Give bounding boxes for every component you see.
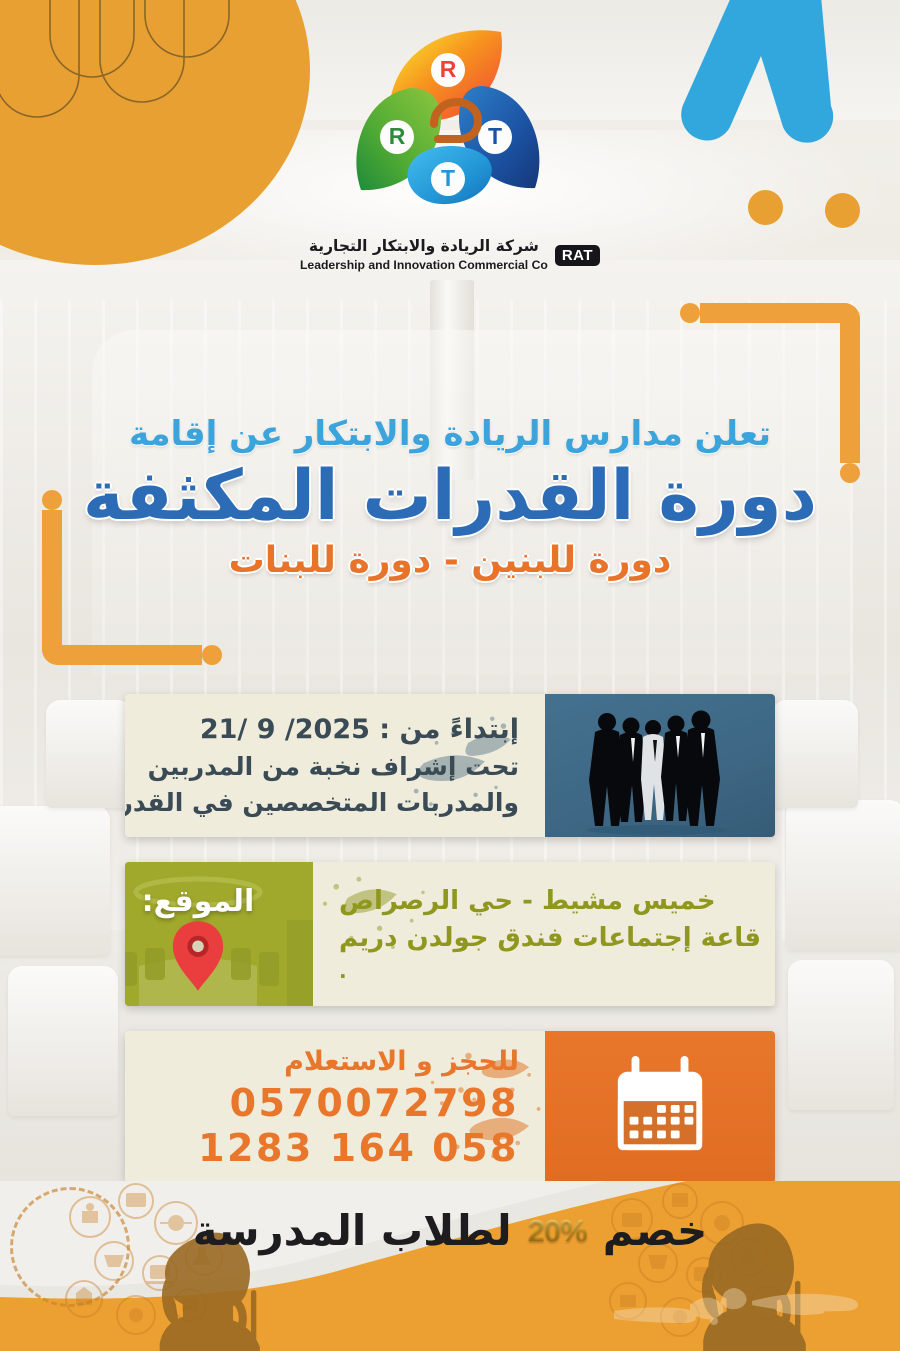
brand-caption: RAT شركة الريادة والابتكار التجارية Lead… (0, 237, 900, 273)
location-card: خميس مشيط - حي الرصراص قاعة إجتماعات فند… (125, 862, 775, 1006)
phone-number-1[interactable]: 0570072798 (230, 1081, 519, 1126)
calendar-icon (606, 1056, 714, 1158)
svg-text:R: R (389, 123, 406, 149)
brand-name-english: Leadership and Innovation Commercial Co (300, 258, 548, 272)
rat-chip: RAT (555, 245, 600, 266)
chair-right-2 (788, 960, 894, 1110)
headline-eyebrow: تعلن مدارس الريادة والابتكار عن إقامة (0, 414, 900, 454)
business-people-silhouette-icon (545, 694, 775, 837)
svg-text:T: T (488, 123, 502, 149)
chair-left-1 (0, 806, 110, 956)
svg-text:R: R (440, 56, 457, 82)
chair-mid-right (772, 700, 858, 808)
schedule-line-1: إبتداءً من : 2025/ 9 /21 (200, 711, 519, 749)
location-card-body: خميس مشيط - حي الرصراص قاعة إجتماعات فند… (313, 862, 775, 1006)
haraj-watermark (602, 1271, 872, 1333)
poster-canvas: R R T T RAT شركة الريادة والابتكار التجا… (0, 0, 900, 1351)
schedule-line-2: تحت إشراف نخبة من المدربين (148, 749, 519, 785)
brand-logo: R R T T RAT شركة الريادة والابتكار التجا… (0, 24, 900, 273)
discount-badge: 20% (528, 1213, 587, 1249)
contact-card: للحجز و الاستعلام 0570072798 058 164 128… (125, 1031, 775, 1183)
location-line-2: قاعة إجتماعات فندق جولدن دريم (339, 920, 761, 957)
discount-prefix: خصم (603, 1206, 708, 1255)
calendar-panel (545, 1031, 775, 1183)
schedule-line-3: والمدربات المتخصصين في القدرات (125, 785, 519, 821)
svg-text:T: T (441, 165, 455, 191)
brand-name-arabic: شركة الريادة والابتكار التجارية (309, 237, 539, 255)
chair-right-1 (786, 800, 900, 950)
headline-block: تعلن مدارس الريادة والابتكار عن إقامة دو… (0, 414, 900, 581)
phone-number-2[interactable]: 058 164 1283 (198, 1126, 519, 1171)
location-line-1: خميس مشيط - حي الرصراص (339, 883, 716, 920)
schedule-card-body: إبتداءً من : 2025/ 9 /21 تحت إشراف نخبة … (125, 694, 545, 837)
location-photo-panel: الموقع: (125, 862, 313, 1006)
location-line-3: . (339, 957, 347, 985)
map-pin-icon (169, 918, 227, 994)
contact-label: للحجز و الاستعلام (284, 1043, 519, 1081)
location-panel-label: الموقع: (125, 884, 313, 919)
headline-subtitle: دورة للبنين - دورة للبنات (0, 540, 900, 581)
page-title: دورة القدرات المكثفة (0, 460, 900, 532)
chair-mid-left (46, 700, 132, 808)
rat-petals-logo-icon: R R T T (335, 24, 565, 229)
discount-suffix: لطلاب المدرسة (193, 1206, 512, 1255)
contact-card-body: للحجز و الاستعلام 0570072798 058 164 128… (125, 1031, 545, 1183)
chair-left-2 (8, 966, 118, 1116)
schedule-card: إبتداءً من : 2025/ 9 /21 تحت إشراف نخبة … (125, 694, 775, 837)
discount-line: خصم 20% لطلاب المدرسة (0, 1206, 900, 1255)
